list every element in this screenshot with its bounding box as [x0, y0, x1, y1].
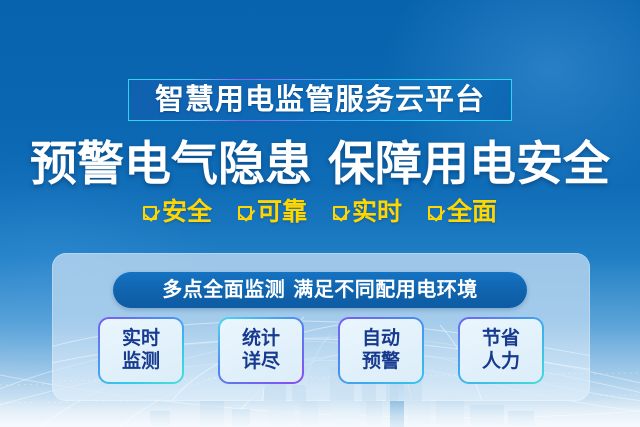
platform-title-box: 智慧用电监管服务云平台	[128, 79, 512, 121]
feature-card-detailed-statistics[interactable]: 统计 详尽	[218, 317, 304, 384]
card-line-2: 预警	[362, 351, 400, 373]
banner-part-1: 多点全面监测	[162, 279, 285, 301]
checkbox-checked-icon	[333, 206, 347, 220]
feature-card-inner: 实时 监测	[100, 319, 182, 382]
feature-card-list: 实时 监测 统计 详尽 自动 预警 节省 人力	[98, 317, 544, 384]
feature-card-realtime-monitoring[interactable]: 实时 监测	[98, 317, 184, 384]
headline-part-1: 预警电气隐患	[30, 137, 312, 190]
feature-check-list: 安全 可靠 实时 全面	[0, 200, 640, 225]
platform-title-box-inner: 智慧用电监管服务云平台	[129, 80, 511, 120]
feature-card-inner: 节省 人力	[460, 319, 542, 382]
check-item-realtime: 实时	[333, 200, 402, 225]
feature-card-inner: 统计 详尽	[220, 319, 302, 382]
card-line-2: 详尽	[242, 351, 280, 373]
poster-root: 智慧用电监管服务云平台 预警电气隐患保障用电安全 安全 可靠 实时 全面	[0, 0, 640, 427]
check-label: 安全	[162, 200, 212, 225]
checkbox-checked-icon	[428, 206, 442, 220]
banner-part-2: 满足不同配用电环境	[293, 279, 478, 301]
check-item-reliable: 可靠	[238, 200, 307, 225]
check-label: 实时	[352, 200, 402, 225]
check-item-comprehensive: 全面	[428, 200, 497, 225]
checkbox-checked-icon	[143, 206, 157, 220]
card-line-1: 自动	[362, 328, 400, 350]
platform-title-text: 智慧用电监管服务云平台	[155, 86, 485, 115]
page-title: 预警电气隐患保障用电安全	[0, 140, 640, 187]
feature-card-inner: 自动 预警	[340, 319, 422, 382]
headline-part-2: 保障用电安全	[328, 137, 610, 190]
card-line-2: 人力	[482, 351, 520, 373]
subtitle-banner-text: 多点全面监测满足不同配用电环境	[162, 280, 478, 300]
card-line-1: 统计	[242, 328, 280, 350]
subtitle-banner: 多点全面监测满足不同配用电环境	[113, 272, 527, 308]
feature-card-auto-alarm[interactable]: 自动 预警	[338, 317, 424, 384]
card-line-1: 实时	[122, 328, 160, 350]
feature-card-save-manpower[interactable]: 节省 人力	[458, 317, 544, 384]
check-label: 可靠	[257, 200, 307, 225]
card-line-1: 节省	[482, 328, 520, 350]
check-item-safety: 安全	[143, 200, 212, 225]
check-label: 全面	[447, 200, 497, 225]
checkbox-checked-icon	[238, 206, 252, 220]
card-line-2: 监测	[122, 351, 160, 373]
